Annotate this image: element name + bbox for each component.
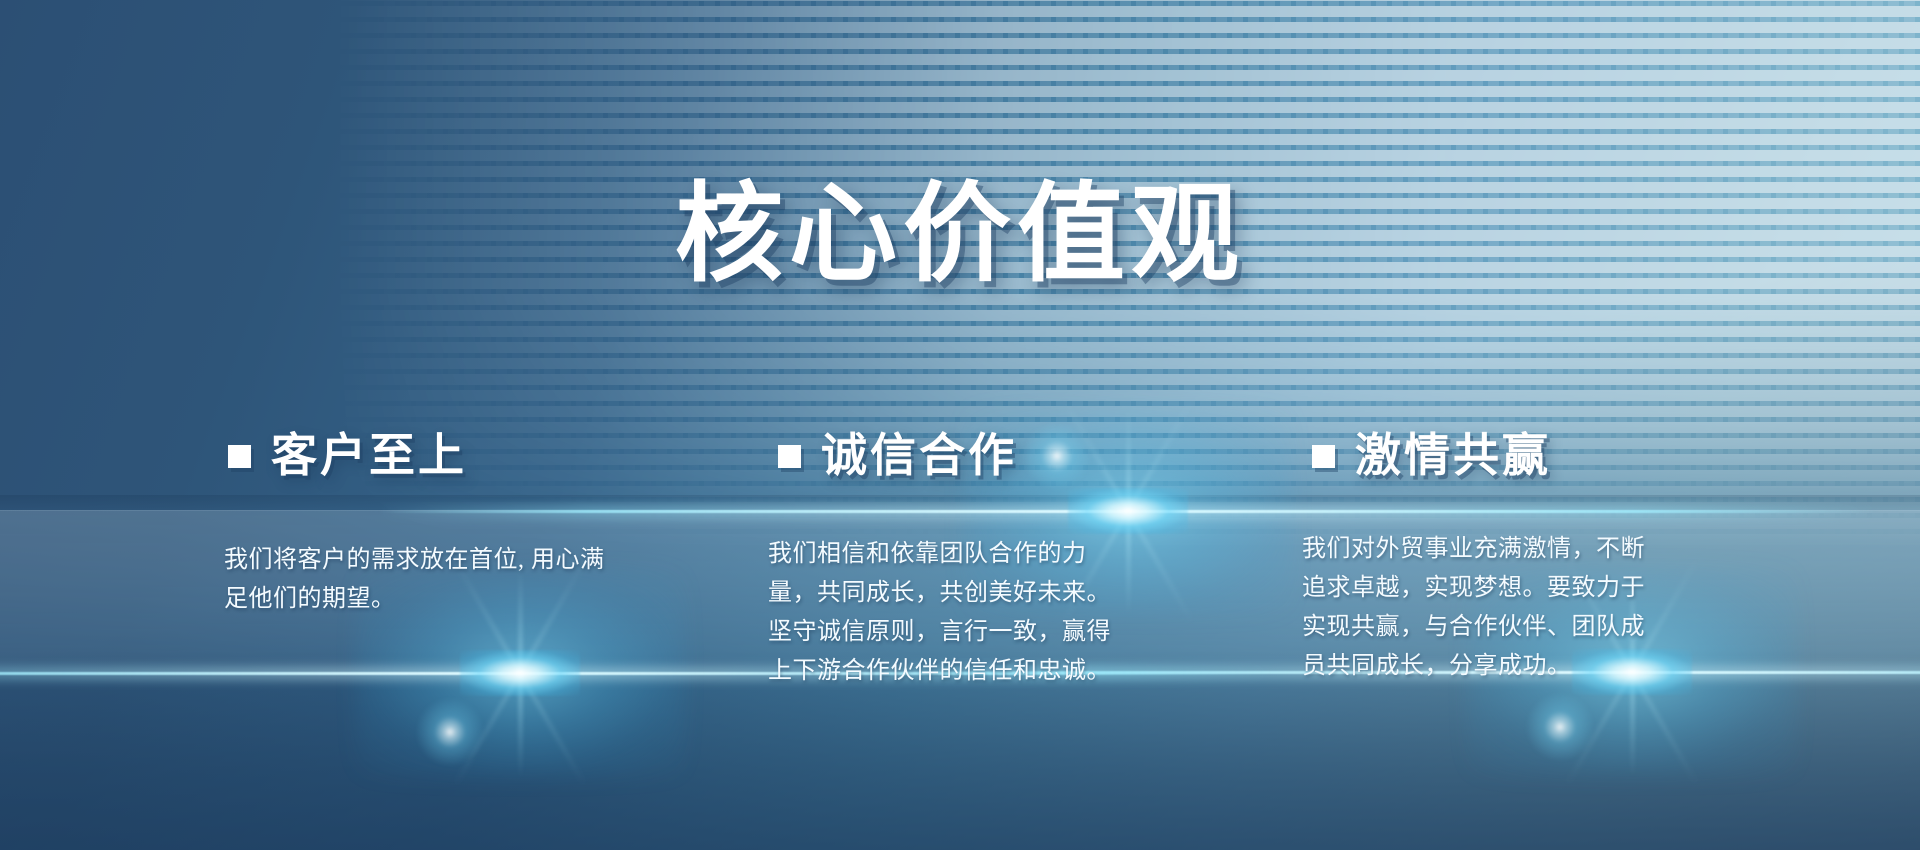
value-body-1: 我们将客户的需求放在首位, 用心满足他们的期望。 xyxy=(224,541,624,619)
banner-content: 核心价值观 客户至上 我们将客户的需求放在首位, 用心满足他们的期望。 诚信合作… xyxy=(0,0,1920,850)
square-bullet-icon xyxy=(778,445,801,468)
value-columns: 客户至上 我们将客户的需求放在首位, 用心满足他们的期望。 诚信合作 我们相信和… xyxy=(0,0,1920,850)
value-heading-3: 激情共赢 xyxy=(1312,425,1732,487)
value-column-2: 诚信合作 我们相信和依靠团队合作的力量，共同成长，共创美好未来。坚守诚信原则，言… xyxy=(778,425,1198,487)
square-bullet-icon xyxy=(228,445,251,468)
value-body-2: 我们相信和依靠团队合作的力量，共同成长，共创美好未来。坚守诚信原则，言行一致，赢… xyxy=(768,535,1128,691)
value-heading-text: 诚信合作 xyxy=(821,433,1017,479)
value-heading-text: 激情共赢 xyxy=(1355,433,1551,479)
value-heading-1: 客户至上 xyxy=(228,425,658,487)
value-body-3: 我们对外贸事业充满激情，不断追求卓越，实现梦想。要致力于实现共赢，与合作伙伴、团… xyxy=(1302,530,1662,686)
value-column-1: 客户至上 我们将客户的需求放在首位, 用心满足他们的期望。 xyxy=(228,425,658,487)
square-bullet-icon xyxy=(1312,445,1335,468)
value-column-3: 激情共赢 我们对外贸事业充满激情，不断追求卓越，实现梦想。要致力于实现共赢，与合… xyxy=(1312,425,1732,487)
value-heading-2: 诚信合作 xyxy=(778,425,1198,487)
banner-stage: 核心价值观 客户至上 我们将客户的需求放在首位, 用心满足他们的期望。 诚信合作… xyxy=(0,0,1920,850)
value-heading-text: 客户至上 xyxy=(271,433,467,479)
